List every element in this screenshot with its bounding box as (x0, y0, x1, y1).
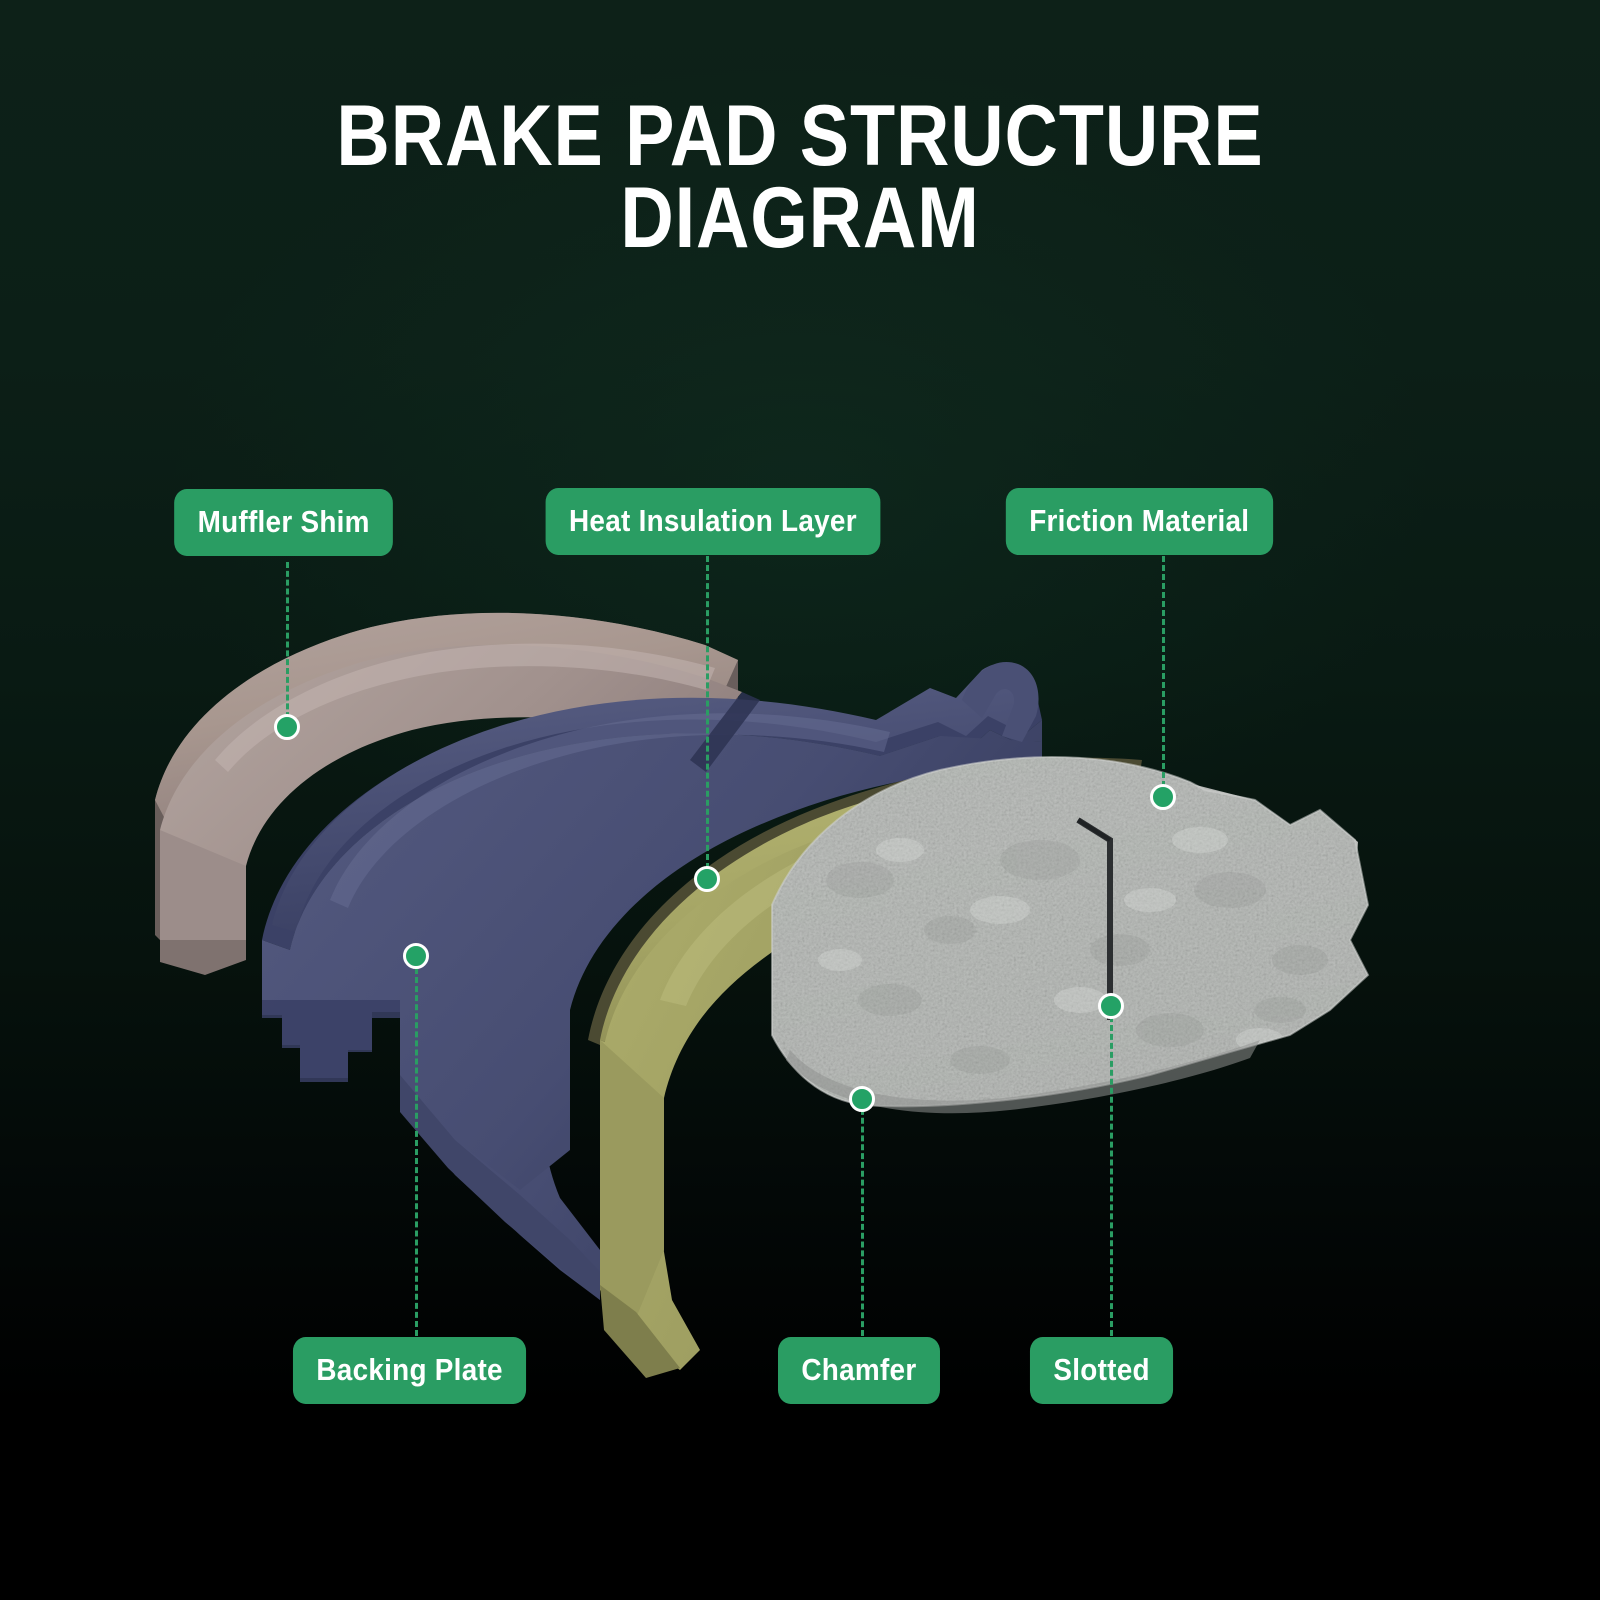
marker-dot-friction-material[interactable] (1150, 784, 1176, 810)
label-muffler-shim[interactable]: Muffler Shim (174, 489, 393, 556)
diagram-canvas: BRAKE PAD STRUCTURE DIAGRAM (0, 0, 1600, 1600)
page-title: BRAKE PAD STRUCTURE DIAGRAM (0, 96, 1600, 259)
connector-slotted (1110, 1007, 1113, 1336)
connector-friction-material (1162, 556, 1165, 796)
connector-muffler-shim (286, 562, 289, 727)
connector-chamfer (861, 1100, 864, 1336)
label-friction-material[interactable]: Friction Material (1006, 488, 1273, 555)
label-slotted[interactable]: Slotted (1030, 1337, 1173, 1404)
title-line-1: BRAKE PAD STRUCTURE (112, 96, 1488, 178)
label-heat-insulation-layer[interactable]: Heat Insulation Layer (546, 488, 881, 555)
marker-dot-heat-insulation[interactable] (694, 866, 720, 892)
label-backing-plate[interactable]: Backing Plate (293, 1337, 526, 1404)
connector-backing-plate (415, 968, 418, 1336)
title-line-2: DIAGRAM (112, 178, 1488, 260)
label-chamfer[interactable]: Chamfer (778, 1337, 940, 1404)
marker-dot-chamfer[interactable] (849, 1086, 875, 1112)
marker-dot-slotted[interactable] (1098, 993, 1124, 1019)
marker-dot-muffler-shim[interactable] (274, 714, 300, 740)
connector-heat-insulation (706, 556, 709, 878)
marker-dot-backing-plate[interactable] (403, 943, 429, 969)
